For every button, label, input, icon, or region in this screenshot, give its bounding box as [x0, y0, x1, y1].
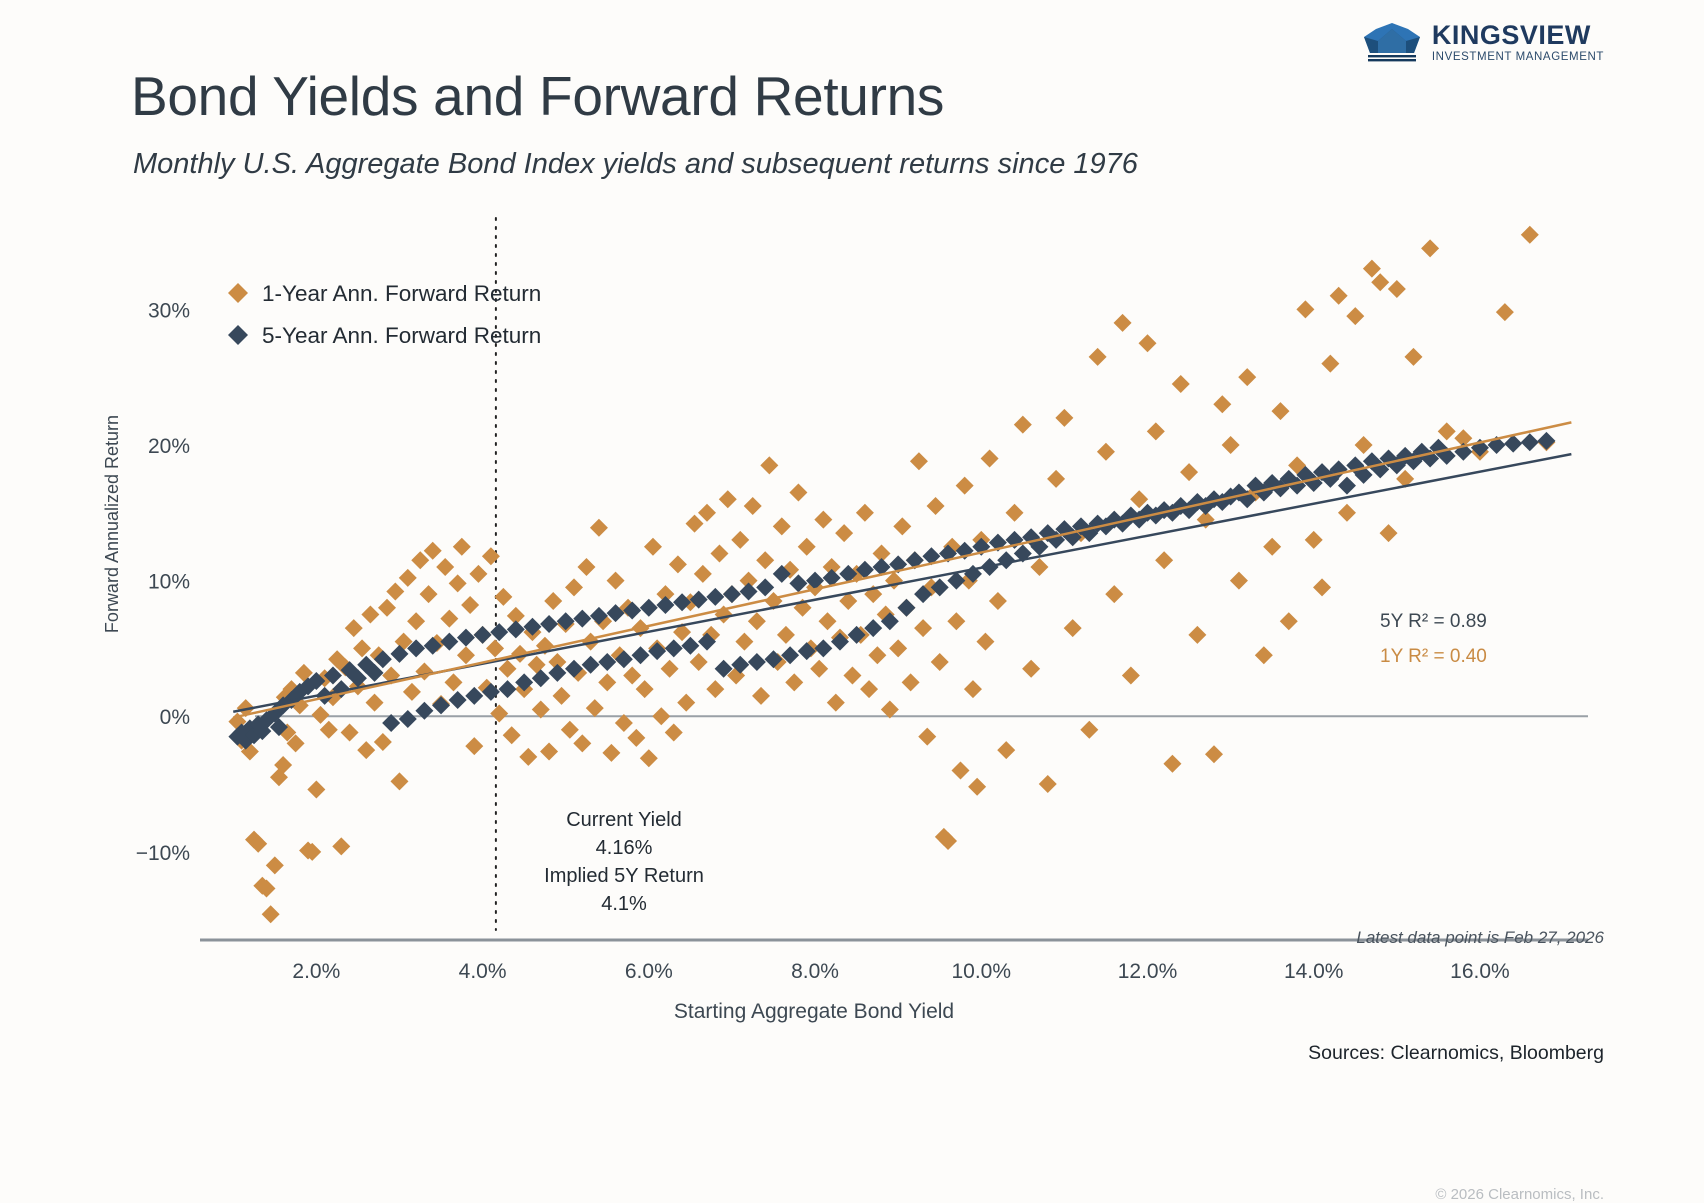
point-1y — [1238, 368, 1256, 386]
point-5y — [773, 565, 791, 583]
latest-data-point-note: Latest data point is Feb 27, 2026 — [1356, 928, 1604, 948]
point-5y — [249, 715, 267, 733]
point-1y — [573, 734, 591, 752]
point-5y — [1014, 544, 1032, 562]
point-1y — [499, 660, 517, 678]
point-1y — [864, 585, 882, 603]
point-1y — [760, 456, 778, 474]
point-1y — [902, 673, 920, 691]
point-1y — [386, 582, 404, 600]
x-tick-label: 8.0% — [791, 960, 839, 983]
point-1y — [1006, 504, 1024, 522]
point-5y — [374, 650, 392, 668]
point-1y — [1064, 619, 1082, 637]
point-5y — [1537, 432, 1555, 450]
point-1y — [806, 578, 824, 596]
point-1y — [740, 572, 758, 590]
point-1y — [1371, 273, 1389, 291]
point-1y — [1197, 511, 1215, 529]
point-5y — [357, 656, 375, 674]
point-1y — [1363, 260, 1381, 278]
point-1y — [856, 504, 874, 522]
point-1y — [727, 667, 745, 685]
point-5y — [399, 710, 417, 728]
point-1y — [843, 667, 861, 685]
x-axis-title: Starting Aggregate Bond Yield — [674, 1000, 954, 1023]
point-5y — [1255, 483, 1273, 501]
point-1y — [956, 477, 974, 495]
point-5y — [731, 656, 749, 674]
point-5y — [515, 673, 533, 691]
point-1y — [594, 612, 612, 630]
point-5y — [931, 578, 949, 596]
point-5y — [681, 637, 699, 655]
crown-icon — [1362, 23, 1422, 63]
point-1y — [303, 843, 321, 861]
point-5y — [1263, 474, 1281, 492]
point-1y — [1346, 307, 1364, 325]
point-1y — [1155, 551, 1173, 569]
point-5y — [1413, 443, 1431, 461]
point-1y — [1421, 239, 1439, 257]
point-5y — [1313, 463, 1331, 481]
point-5y — [673, 593, 691, 611]
point-1y — [457, 646, 475, 664]
legend-marker-5y — [228, 325, 248, 345]
point-1y — [922, 578, 940, 596]
point-5y — [823, 569, 841, 587]
point-1y — [681, 593, 699, 611]
point-1y — [328, 650, 346, 668]
point-1y — [332, 837, 350, 855]
point-1y — [1355, 436, 1373, 454]
point-5y — [1172, 497, 1190, 515]
point-5y — [490, 623, 508, 641]
point-5y — [382, 714, 400, 732]
point-5y — [964, 565, 982, 583]
point-1y — [972, 531, 990, 549]
point-5y — [1288, 477, 1306, 495]
point-5y — [1147, 507, 1165, 525]
point-5y — [1030, 538, 1048, 556]
point-1y — [644, 538, 662, 556]
point-1y — [661, 660, 679, 678]
point-1y — [839, 592, 857, 610]
r2-1y-label: 1Y R² = 0.40 — [1380, 646, 1487, 667]
point-1y — [769, 653, 787, 671]
x-tick-label: 12.0% — [1118, 960, 1178, 983]
point-5y — [1055, 520, 1073, 538]
point-1y — [702, 626, 720, 644]
point-1y — [436, 558, 454, 576]
point-1y — [316, 669, 334, 687]
point-1y — [382, 667, 400, 685]
point-5y — [1504, 435, 1522, 453]
point-1y — [449, 574, 467, 592]
r2-5y-label: 5Y R² = 0.89 — [1380, 611, 1487, 632]
point-5y — [1047, 531, 1065, 549]
point-5y — [237, 732, 255, 750]
point-5y — [789, 574, 807, 592]
point-5y — [1271, 479, 1289, 497]
point-5y — [241, 719, 259, 737]
point-1y — [802, 639, 820, 657]
point-1y — [756, 551, 774, 569]
point-1y — [548, 653, 566, 671]
point-1y — [411, 551, 429, 569]
point-1y — [1213, 395, 1231, 413]
point-1y — [345, 619, 363, 637]
kingsview-logo: KINGSVIEW INVESTMENT MANAGEMENT — [1362, 22, 1604, 64]
point-1y — [274, 756, 292, 774]
point-1y — [478, 679, 496, 697]
annotation-current-yield-label: Current Yield — [566, 809, 682, 831]
point-1y — [910, 452, 928, 470]
point-1y — [1404, 348, 1422, 366]
point-1y — [1188, 626, 1206, 644]
point-1y — [1205, 745, 1223, 763]
point-5y — [1089, 515, 1107, 533]
point-1y — [519, 748, 537, 766]
point-5y — [407, 639, 425, 657]
point-1y — [528, 656, 546, 674]
point-1y — [819, 612, 837, 630]
point-5y — [332, 680, 350, 698]
point-1y — [607, 572, 625, 590]
point-1y — [474, 626, 492, 644]
point-5y — [1163, 504, 1181, 522]
point-1y — [1047, 470, 1065, 488]
point-5y — [939, 544, 957, 562]
point-1y — [465, 737, 483, 755]
point-1y — [827, 694, 845, 712]
point-1y — [511, 645, 529, 663]
point-5y — [1138, 504, 1156, 522]
point-1y — [968, 778, 986, 796]
point-1y — [577, 558, 595, 576]
point-5y — [440, 633, 458, 651]
point-5y — [632, 646, 650, 664]
point-1y — [615, 714, 633, 732]
point-5y — [956, 542, 974, 560]
point-5y — [499, 680, 517, 698]
point-1y — [640, 749, 658, 767]
point-1y — [976, 633, 994, 651]
point-1y — [270, 768, 288, 786]
point-1y — [1271, 402, 1289, 420]
point-1y — [665, 724, 683, 742]
point-5y — [245, 726, 263, 744]
point-5y — [706, 588, 724, 606]
x-tick-label: 10.0% — [951, 960, 1011, 983]
trendline-5y — [233, 454, 1571, 712]
point-1y — [532, 700, 550, 718]
point-5y — [1305, 474, 1323, 492]
y-tick-label: 20% — [148, 435, 190, 458]
point-1y — [415, 662, 433, 680]
point-5y — [648, 642, 666, 660]
point-5y — [274, 696, 292, 714]
annotation-implied-return-label: Implied 5Y Return — [544, 865, 704, 887]
point-5y — [457, 629, 475, 647]
point-1y — [262, 905, 280, 923]
point-5y — [1155, 501, 1173, 519]
point-1y — [943, 538, 961, 556]
point-5y — [449, 691, 467, 709]
point-1y — [748, 612, 766, 630]
point-5y — [981, 558, 999, 576]
point-1y — [428, 634, 446, 652]
point-5y — [432, 696, 450, 714]
point-5y — [1454, 443, 1472, 461]
point-1y — [939, 832, 957, 850]
point-5y — [253, 722, 271, 740]
point-1y — [374, 733, 392, 751]
point-1y — [690, 653, 708, 671]
point-1y — [257, 879, 275, 897]
point-1y — [440, 610, 458, 628]
point-1y — [951, 761, 969, 779]
point-1y — [719, 490, 737, 508]
point-1y — [336, 658, 354, 676]
point-1y — [540, 742, 558, 760]
point-1y — [282, 680, 300, 698]
point-5y — [806, 572, 824, 590]
point-1y — [544, 592, 562, 610]
point-1y — [494, 588, 512, 606]
point-5y — [781, 646, 799, 664]
point-1y — [403, 683, 421, 701]
point-1y — [1030, 558, 1048, 576]
point-5y — [1230, 483, 1248, 501]
point-5y — [1280, 470, 1298, 488]
point-1y — [935, 828, 953, 846]
point-5y — [665, 639, 683, 657]
point-5y — [656, 596, 674, 614]
point-5y — [474, 626, 492, 644]
point-5y — [349, 669, 367, 687]
point-5y — [972, 538, 990, 556]
point-5y — [1330, 460, 1348, 478]
point-5y — [341, 661, 359, 679]
point-1y — [673, 623, 691, 641]
point-1y — [636, 680, 654, 698]
copyright-note: © 2026 Clearnomics, Inc. — [1435, 1186, 1604, 1203]
point-5y — [640, 599, 658, 617]
point-5y — [623, 601, 641, 619]
point-1y — [1130, 490, 1148, 508]
y-axis-title: Forward Annualized Return — [102, 415, 122, 633]
point-5y — [1438, 447, 1456, 465]
point-5y — [465, 687, 483, 705]
point-5y — [1238, 490, 1256, 508]
point-1y — [1147, 422, 1165, 440]
point-5y — [848, 626, 866, 644]
point-5y — [548, 664, 566, 682]
point-5y — [424, 637, 442, 655]
point-5y — [482, 683, 500, 701]
point-1y — [798, 538, 816, 556]
y-tick-label: 0% — [160, 706, 190, 729]
point-1y — [1072, 524, 1090, 542]
point-1y — [432, 695, 450, 713]
point-5y — [257, 711, 275, 729]
annotation-implied-return-value: 4.1% — [601, 893, 647, 915]
logo-tagline: INVESTMENT MANAGEMENT — [1432, 52, 1604, 64]
point-5y — [798, 642, 816, 660]
point-5y — [723, 585, 741, 603]
point-1y — [723, 585, 741, 603]
point-1y — [997, 741, 1015, 759]
point-1y — [1247, 483, 1265, 501]
point-1y — [764, 592, 782, 610]
point-5y — [1355, 466, 1373, 484]
point-5y — [270, 718, 288, 736]
point-1y — [677, 694, 695, 712]
point-1y — [553, 687, 571, 705]
point-5y — [1080, 524, 1098, 542]
point-5y — [1205, 490, 1223, 508]
point-1y — [461, 596, 479, 614]
point-1y — [1055, 409, 1073, 427]
point-1y — [893, 517, 911, 535]
point-1y — [424, 542, 442, 560]
x-tick-label: 16.0% — [1450, 960, 1510, 983]
point-5y — [282, 691, 300, 709]
point-1y — [565, 578, 583, 596]
point-1y — [1471, 443, 1489, 461]
point-1y — [823, 558, 841, 576]
point-1y — [1537, 433, 1555, 451]
point-1y — [848, 565, 866, 583]
point-1y — [648, 639, 666, 657]
point-1y — [253, 877, 271, 895]
point-5y — [390, 645, 408, 663]
point-5y — [590, 607, 608, 625]
point-1y — [1313, 578, 1331, 596]
point-5y — [1022, 528, 1040, 546]
point-1y — [889, 639, 907, 657]
point-1y — [706, 680, 724, 698]
point-1y — [1255, 646, 1273, 664]
point-1y — [590, 519, 608, 537]
point-1y — [1105, 585, 1123, 603]
point-1y — [482, 547, 500, 565]
point-5y — [690, 591, 708, 609]
point-5y — [557, 612, 575, 630]
point-1y — [320, 721, 338, 739]
point-5y — [1064, 528, 1082, 546]
point-1y — [731, 531, 749, 549]
point-1y — [735, 633, 753, 651]
point-1y — [897, 599, 915, 617]
point-5y — [873, 558, 891, 576]
point-5y — [307, 672, 325, 690]
logo-brand-name: KINGSVIEW — [1432, 22, 1604, 49]
point-1y — [860, 680, 878, 698]
point-1y — [989, 592, 1007, 610]
point-5y — [1222, 488, 1240, 506]
point-1y — [370, 646, 388, 664]
point-5y — [740, 582, 758, 600]
point-1y — [852, 626, 870, 644]
point-1y — [873, 544, 891, 562]
point-5y — [291, 683, 309, 701]
point-1y — [291, 696, 309, 714]
point-1y — [582, 633, 600, 651]
point-5y — [1130, 511, 1148, 529]
point-1y — [341, 724, 359, 742]
point-5y — [1188, 493, 1206, 511]
point-1y — [241, 742, 259, 760]
point-5y — [1180, 501, 1198, 519]
point-5y — [1521, 433, 1539, 451]
y-tick-label: 10% — [148, 571, 190, 594]
point-1y — [390, 772, 408, 790]
point-1y — [814, 511, 832, 529]
point-1y — [877, 606, 895, 624]
point-1y — [276, 688, 294, 706]
legend-marker-1y — [228, 283, 248, 303]
page-title: Bond Yields and Forward Returns — [131, 64, 944, 128]
point-5y — [532, 669, 550, 687]
point-1y — [835, 524, 853, 542]
point-1y — [561, 721, 579, 739]
point-1y — [686, 515, 704, 533]
point-1y — [1280, 612, 1298, 630]
point-5y — [607, 604, 625, 622]
point-1y — [1122, 667, 1140, 685]
point-1y — [652, 707, 670, 725]
point-1y — [602, 744, 620, 762]
legend-label-1y: 1-Year Ann. Forward Return — [262, 281, 541, 306]
point-1y — [785, 673, 803, 691]
point-5y — [1006, 531, 1024, 549]
point-1y — [249, 835, 267, 853]
point-1y — [669, 555, 687, 573]
point-1y — [1180, 463, 1198, 481]
point-1y — [632, 619, 650, 637]
point-1y — [931, 653, 949, 671]
point-1y — [523, 623, 541, 641]
point-1y — [1380, 524, 1398, 542]
point-1y — [1022, 660, 1040, 678]
point-5y — [615, 650, 633, 668]
point-1y — [885, 572, 903, 590]
point-1y — [789, 483, 807, 501]
annotation-current-yield-value: 4.16% — [596, 837, 653, 859]
point-1y — [378, 599, 396, 617]
point-5y — [764, 650, 782, 668]
point-1y — [228, 713, 246, 731]
point-1y — [569, 664, 587, 682]
point-5y — [1213, 493, 1231, 511]
point-1y — [1305, 531, 1323, 549]
point-5y — [1122, 507, 1140, 525]
legend-label-5y: 5-Year Ann. Forward Return — [262, 323, 541, 348]
x-tick-label: 2.0% — [292, 960, 340, 983]
point-5y — [366, 664, 384, 682]
point-1y — [981, 450, 999, 468]
point-5y — [1488, 436, 1506, 454]
point-1y — [357, 741, 375, 759]
point-5y — [1404, 452, 1422, 470]
point-5y — [756, 578, 774, 596]
point-1y — [918, 728, 936, 746]
point-1y — [287, 734, 305, 752]
point-1y — [307, 780, 325, 798]
point-5y — [748, 653, 766, 671]
